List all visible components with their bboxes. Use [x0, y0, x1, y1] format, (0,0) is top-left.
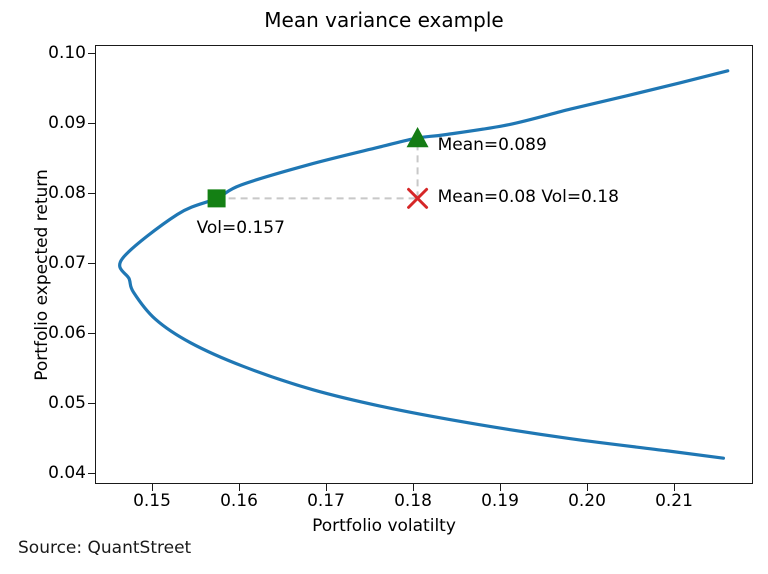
plot-svg	[96, 46, 754, 485]
x-tick-label: 0.17	[307, 491, 345, 511]
x-tick-label: 0.16	[220, 491, 258, 511]
figure-canvas: Mean variance example 0.04 0.05 0.06 0.0…	[0, 0, 768, 574]
source-note: Source: QuantStreet	[18, 538, 191, 558]
x-tick-mark	[587, 484, 588, 491]
x-tick-label: 0.20	[568, 491, 606, 511]
efficient-frontier-curve	[120, 71, 728, 458]
x-tick-mark	[674, 484, 675, 491]
x-tick-mark	[500, 484, 501, 491]
min-risk-marker-square[interactable]	[208, 189, 226, 207]
x-tick-mark	[152, 484, 153, 491]
x-tick-label: 0.18	[394, 491, 432, 511]
min-risk-annotation-label: Vol=0.157	[197, 218, 285, 238]
max-return-annotation-label: Mean=0.089	[438, 135, 547, 155]
reference-annotation-label: Mean=0.08 Vol=0.18	[438, 187, 619, 207]
plot-area: Vol=0.157 Mean=0.089 Mean=0.08 Vol=0.18	[95, 45, 753, 484]
x-tick-label: 0.21	[655, 491, 693, 511]
y-axis-label: Portfolio expected return	[32, 65, 52, 485]
x-tick-label: 0.15	[133, 491, 171, 511]
x-tick-mark	[326, 484, 327, 491]
x-tick-label: 0.19	[481, 491, 519, 511]
x-tick-mark	[239, 484, 240, 491]
x-tick-mark	[413, 484, 414, 491]
x-axis-label: Portfolio volatilty	[0, 516, 768, 536]
